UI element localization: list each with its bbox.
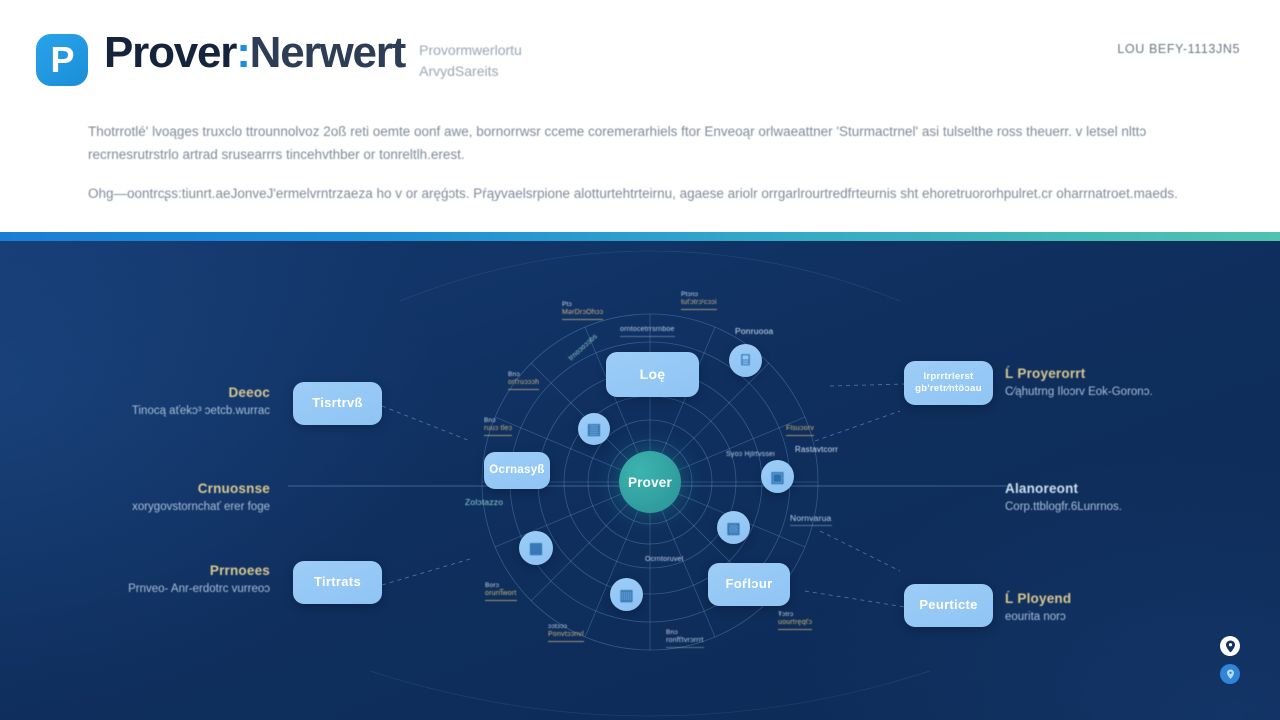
- micro-label-3: Ponruooa: [735, 326, 773, 337]
- right-label-2-title: Alanoreont: [1005, 479, 1122, 499]
- micro-label-6-text: orťruɔɔɔh: [508, 379, 539, 386]
- micro-label-3-text: Ponruooa: [735, 326, 773, 336]
- logo-letter: P: [50, 42, 73, 78]
- page-subtitle-line2: ArvydSareits: [419, 61, 522, 82]
- micro-label-1-text: MǝrDrɔOhɔɔ: [562, 309, 603, 316]
- node-circle-4-icon: ▧: [726, 519, 740, 537]
- left-label-2-desc: xorygovstornchať erer foge: [132, 499, 270, 516]
- left-label-group-2: Crnuosnse xorygovstornchať erer foge: [132, 479, 270, 517]
- micro-label-16: ɔɔtɔɔɔ Ponvtɔɔnvl: [548, 623, 584, 642]
- intro-paragraph-1: Thotrrotléʹ lvoąges truxclo ttrounnolvoz…: [88, 120, 1198, 166]
- right-label-3-title: Ĺ Ployend: [1005, 589, 1071, 609]
- micro-label-16-cap: ɔɔtɔɔɔ: [548, 623, 584, 631]
- micro-label-10-text: Syoɔ Hjlrtvssei: [726, 451, 775, 458]
- node-box-left-bottom-label: Tirtrats: [314, 574, 361, 590]
- micro-label-2-cap: Ptɔnɔ: [681, 291, 717, 299]
- node-circle-2-icon: ▤: [587, 420, 601, 438]
- right-label-group-2: Alanoreont Corp.ttblogfr.6Lunrnos.: [1005, 479, 1122, 517]
- brand-lockup: P Prover:Nerwert Provormwerlortu ArvydSa…: [36, 30, 522, 86]
- micro-label-4: orntocetrrsrnboe: [620, 326, 675, 337]
- page-title-accent: :: [236, 28, 249, 77]
- page-title: Prover:Nerwert: [104, 30, 405, 76]
- intro-paragraph-2: Ohg—oontrcʂs:tiunrt.aeJonveJ'ermelvrntrz…: [88, 182, 1198, 205]
- micro-label-15-text: uourtręqťɔ: [778, 619, 812, 626]
- hub-node-prover[interactable]: Prover: [619, 451, 681, 513]
- left-label-group-1: Deeoc Tinocą aťekɔ³ ɔetcb.wurrac: [132, 383, 270, 421]
- right-label-1-title: Ĺ Proyerorrt: [1005, 364, 1153, 384]
- micro-label-7-cap: Bnɔ: [484, 417, 512, 425]
- diagram-stage: Deeoc Tinocą aťekɔ³ ɔetcb.wurrac Crnuosn…: [0, 241, 1280, 720]
- node-circle-4[interactable]: ▧: [717, 511, 750, 544]
- micro-label-17-text: Ocrntoruvel: [645, 556, 683, 563]
- right-label-group-1: Ĺ Proyerorrt C⁄ąhutrng Iloɔrv Eok‐Goronɔ…: [1005, 364, 1153, 402]
- micro-label-13-text: orurrl̅wort: [485, 590, 517, 597]
- micro-label-14-cap: Bnɔ: [666, 629, 704, 637]
- micro-label-4-text: orntocetrrsrnboe: [620, 326, 675, 333]
- node-circle-5[interactable]: ▦: [519, 531, 553, 565]
- node-box-left-top-label: Tisrtrvß: [312, 395, 363, 411]
- micro-label-7: Bnɔ ruuɔ tleɔ: [484, 417, 512, 436]
- node-box-inner-bottom-right-label: Foŕlɔur: [726, 576, 773, 592]
- micro-label-14-text: ronfťtvrɔrrrt: [666, 637, 704, 644]
- node-box-inner-top[interactable]: Loę: [606, 352, 699, 397]
- micro-label-2-text: tuťɔtrɔᵗcɔɔi: [681, 299, 717, 306]
- micro-label-6: Bnɔ orťruɔɔɔh: [508, 371, 539, 390]
- micro-label-12: Zolɔtazzo: [465, 497, 503, 508]
- node-box-left-bottom[interactable]: Tirtrats: [293, 561, 382, 604]
- left-label-2-title: Crnuosnse: [132, 479, 270, 499]
- micro-label-1: Ptɔ MǝrDrɔOhɔɔ: [562, 301, 603, 320]
- node-circle-2[interactable]: ▤: [578, 413, 610, 445]
- node-circle-1[interactable]: ⌸: [729, 344, 762, 377]
- right-label-3-desc: eourita norɔ: [1005, 609, 1071, 626]
- left-label-3-desc: Prnveo‐ Anr‐erdotrc vurreoɔ: [128, 581, 270, 598]
- micro-label-8-text: Flsuɔorv: [786, 425, 814, 432]
- right-label-group-3: Ĺ Ployend eourita norɔ: [1005, 589, 1071, 627]
- left-label-group-3: Prrnoees Prnveo‐ Anr‐erdotrc vurreoɔ: [128, 561, 270, 599]
- left-label-1-title: Deeoc: [132, 383, 270, 403]
- right-label-2-desc: Corp.ttblogfr.6Lunrnos.: [1005, 499, 1122, 516]
- left-label-3-title: Prrnoees: [128, 561, 270, 581]
- node-circle-1-icon: ⌸: [741, 352, 750, 369]
- left-label-1-desc: Tinocą aťekɔ³ ɔetcb.wurrac: [132, 403, 270, 420]
- micro-label-13: Borɔ orurrl̅wort: [485, 582, 517, 601]
- node-box-right-bottom-label: Peurticte: [919, 597, 977, 613]
- hub-node-label: Prover: [628, 475, 672, 490]
- micro-label-15-cap: Ŧɔtrɔ: [778, 611, 812, 619]
- node-box-inner-bottom-right[interactable]: Foŕlɔur: [708, 563, 790, 606]
- node-box-inner-top-label: Loę: [640, 366, 666, 384]
- page-subtitle-line1: Provormwerlortu: [419, 40, 522, 61]
- node-box-inner-left[interactable]: Ocrnasyß: [484, 452, 550, 489]
- page-header: P Prover:Nerwert Provormwerlortu ArvydSa…: [0, 0, 1280, 228]
- node-box-right-bottom[interactable]: Peurticte: [904, 584, 993, 627]
- node-box-inner-left-label: Ocrnasyß: [489, 463, 544, 477]
- page-subtitle: Provormwerlortu ArvydSareits: [419, 40, 522, 82]
- micro-label-12-text: Zolɔtazzo: [465, 497, 503, 507]
- node-box-right-top[interactable]: Irprrtrlerst gbʹretr⁄ntöɔau: [904, 361, 993, 405]
- micro-label-9: Rastavtcorr: [795, 445, 838, 455]
- micro-label-1-cap: Ptɔ: [562, 301, 603, 309]
- micro-label-11: Nornvarua: [790, 513, 832, 526]
- location-pin-small-icon[interactable]: [1220, 664, 1240, 684]
- intro-copy: Thotrrotléʹ lvoąges truxclo ttrounnolvoz…: [88, 120, 1198, 206]
- micro-label-17: Ocrntoruvel: [645, 556, 683, 565]
- node-circle-3-icon: ▣: [770, 468, 784, 486]
- micro-label-14: Bnɔ ronfťtvrɔrrrt: [666, 629, 704, 648]
- micro-label-15: Ŧɔtrɔ uourtręqťɔ: [778, 611, 812, 630]
- node-circle-5-icon: ▦: [529, 539, 543, 557]
- gradient-divider: [0, 232, 1280, 241]
- micro-label-10: Syoɔ Hjlrtvssei: [726, 451, 775, 460]
- micro-label-11-text: Nornvarua: [790, 513, 832, 523]
- node-circle-6[interactable]: ▥: [610, 578, 643, 611]
- node-circle-6-icon: ▥: [619, 586, 633, 604]
- node-box-left-top[interactable]: Tisrtrvß: [293, 382, 382, 425]
- corner-icon-group: [1220, 636, 1240, 692]
- location-pin-icon[interactable]: [1220, 636, 1240, 656]
- micro-label-9-text: Rastavtcorr: [795, 445, 838, 454]
- micro-label-13-cap: Borɔ: [485, 582, 517, 590]
- prover-logo-icon: P: [36, 34, 88, 86]
- micro-label-16-text: Ponvtɔɔnvl: [548, 631, 584, 638]
- micro-label-2: Ptɔnɔ tuťɔtrɔᵗcɔɔi: [681, 291, 717, 310]
- node-circle-3[interactable]: ▣: [761, 460, 794, 493]
- micro-label-8: Flsuɔorv: [786, 425, 814, 436]
- node-box-right-top-label: Irprrtrlerst gbʹretr⁄ntöɔau: [915, 371, 982, 395]
- right-label-1-desc: C⁄ąhutrng Iloɔrv Eok‐Goronɔ.: [1005, 384, 1153, 401]
- header-meta-text: LOU BEFY-1113JN5: [1117, 42, 1240, 56]
- micro-label-7-text: ruuɔ tleɔ: [484, 425, 512, 432]
- micro-label-6-cap: Bnɔ: [508, 371, 539, 379]
- page-title-part1: Prover: [104, 28, 236, 77]
- page-title-part2: Nerwert: [250, 28, 405, 77]
